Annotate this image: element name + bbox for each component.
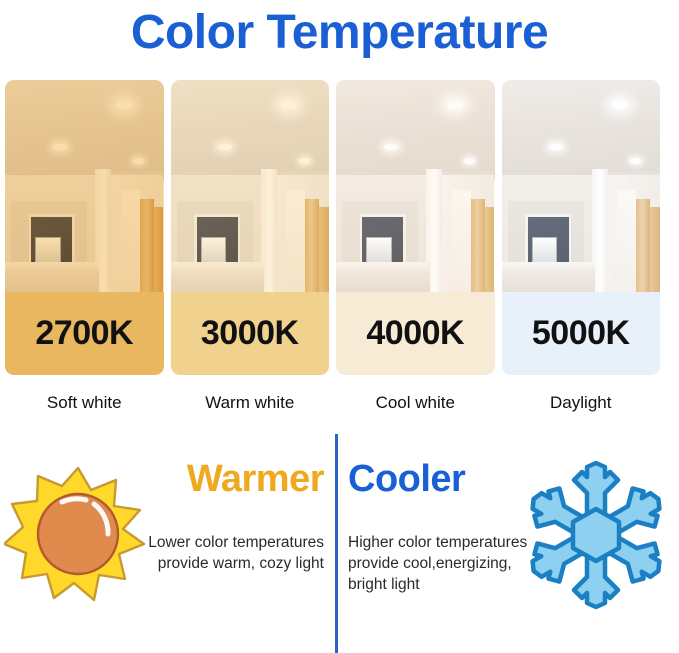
room-photo bbox=[336, 80, 495, 292]
room-photo bbox=[171, 80, 330, 292]
temperature-panel[interactable]: 2700K bbox=[5, 80, 164, 375]
cooler-section: Cooler Higher color temperatures provide… bbox=[340, 440, 679, 653]
temperature-panel[interactable]: 3000K bbox=[171, 80, 330, 375]
temperature-panel[interactable]: 5000K bbox=[502, 80, 661, 375]
kelvin-label: 2700K bbox=[35, 314, 133, 353]
panel-caption: Warm white bbox=[171, 382, 330, 424]
kelvin-label: 3000K bbox=[201, 314, 299, 353]
temperature-panel[interactable]: 4000K bbox=[336, 80, 495, 375]
panel-caption: Cool white bbox=[336, 382, 495, 424]
cooler-heading: Cooler bbox=[348, 458, 465, 501]
kelvin-label: 4000K bbox=[366, 314, 464, 353]
snowflake-icon bbox=[521, 460, 671, 608]
cooler-description: Higher color temperatures provide cool,e… bbox=[348, 532, 548, 595]
panel-caption: Soft white bbox=[5, 382, 164, 424]
panel-caption: Daylight bbox=[502, 382, 661, 424]
kelvin-bar: 3000K bbox=[171, 292, 330, 375]
warmer-description: Lower color temperatures provide warm, c… bbox=[124, 532, 324, 574]
vertical-divider bbox=[335, 434, 338, 653]
color-tint-overlay bbox=[336, 80, 495, 292]
kelvin-bar: 5000K bbox=[502, 292, 661, 375]
page-title: Color Temperature bbox=[0, 0, 679, 68]
warmer-section: Warmer Lower color temperatures provide … bbox=[0, 440, 332, 653]
color-tint-overlay bbox=[502, 80, 661, 292]
kelvin-label: 5000K bbox=[532, 314, 630, 353]
warmer-heading: Warmer bbox=[187, 458, 324, 501]
color-tint-overlay bbox=[171, 80, 330, 292]
color-tint-overlay bbox=[5, 80, 164, 292]
temperature-panel-row: 2700K bbox=[5, 80, 674, 375]
caption-row: Soft white Warm white Cool white Dayligh… bbox=[5, 382, 674, 424]
room-photo bbox=[502, 80, 661, 292]
kelvin-bar: 2700K bbox=[5, 292, 164, 375]
room-photo bbox=[5, 80, 164, 292]
kelvin-bar: 4000K bbox=[336, 292, 495, 375]
